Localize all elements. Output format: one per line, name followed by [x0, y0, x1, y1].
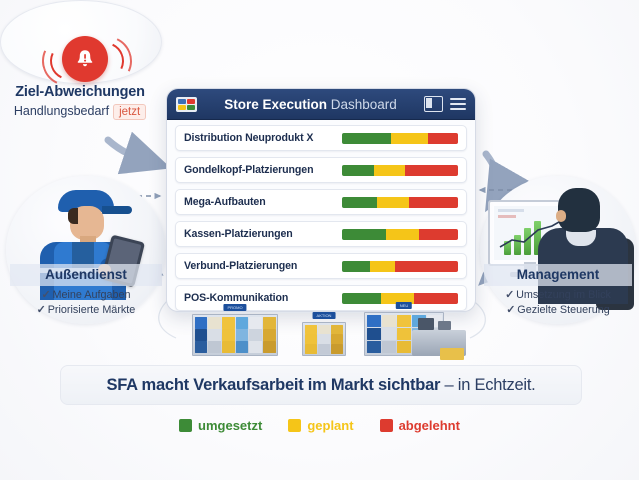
kpi-row[interactable]: Kassen-Platzierungen	[175, 221, 467, 247]
shelf-tier	[305, 334, 344, 344]
kpi-label: Kassen-Platzierungen	[184, 228, 342, 240]
card-view-icon[interactable]	[424, 96, 443, 112]
persona-right-bullets: ✓Umsetzung im Blick ✓Gezielte Steuerung	[480, 288, 636, 318]
kpi-status-bar	[342, 261, 458, 272]
segment-geplant	[377, 197, 409, 208]
caption-text: SFA macht Verkaufsarbeit im Markt sichtb…	[107, 376, 536, 395]
kpi-status-bar	[342, 197, 458, 208]
bullet-label: Meine Aufgaben	[53, 289, 131, 301]
legend-label: geplant	[307, 418, 353, 433]
store-shelf-scene: PROMO AKTION	[176, 308, 466, 360]
segment-geplant	[370, 261, 396, 272]
status-legend: umgesetztgeplantabgelehnt	[0, 418, 639, 433]
kpi-row[interactable]: Gondelkopf-Platzierungen	[175, 157, 467, 183]
bullet-label: Priorisierte Märkte	[48, 304, 136, 316]
kpi-label: Mega-Aufbauten	[184, 196, 342, 208]
persona-left-name: Außendienst	[6, 267, 166, 282]
legend-swatch	[179, 419, 192, 432]
segment-geplant	[386, 229, 418, 240]
list-item: ✓Meine Aufgaben	[6, 288, 166, 303]
page-title: Store Execution Dashboard	[204, 97, 417, 112]
bullet-label: Umsetzung im Blick	[516, 289, 611, 301]
kpi-label: Distribution Neuprodukt X	[184, 132, 342, 144]
title-bold: Store Execution	[224, 97, 327, 112]
app-tiles-icon	[176, 97, 197, 112]
checkout-counter	[412, 330, 466, 356]
title-light: Dashboard	[331, 97, 397, 112]
segment-geplant	[374, 165, 404, 176]
bullet-label: Gezielte Steuerung	[517, 304, 609, 316]
segment-abgelehnt	[428, 133, 458, 144]
alert-now-badge: jetzt	[113, 104, 146, 120]
shelf-rack	[302, 322, 346, 356]
segment-abgelehnt	[419, 229, 458, 240]
hamburger-menu-icon[interactable]	[450, 98, 466, 110]
segment-geplant	[391, 133, 428, 144]
kpi-row[interactable]: Verbund-Platzierungen	[175, 253, 467, 279]
legend-item: geplant	[288, 418, 353, 433]
manager-head	[558, 188, 600, 232]
kpi-label: Verbund-Platzierungen	[184, 260, 342, 272]
segment-abgelehnt	[405, 165, 458, 176]
legend-swatch	[380, 419, 393, 432]
shelf-tier	[195, 329, 276, 341]
check-icon: ✓	[505, 289, 514, 301]
check-icon: ✓	[506, 304, 515, 316]
infographic-canvas: Ziel-Abweichungen Handlungsbedarfjetzt A…	[0, 0, 639, 480]
dashboard-titlebar: Store Execution Dashboard	[167, 89, 475, 120]
checkout-crate	[440, 348, 464, 360]
gondola-shelf-large: PROMO	[192, 314, 278, 356]
rep-cap-brim	[102, 206, 132, 214]
segment-abgelehnt	[409, 197, 458, 208]
store-execution-dashboard[interactable]: Store Execution Dashboard Distribution N…	[166, 88, 476, 312]
alert-subtitle: Handlungsbedarf	[14, 104, 109, 118]
manager-ear	[556, 210, 566, 222]
persona-left-bullets: ✓Meine Aufgaben ✓Priorisierte Märkte	[6, 288, 166, 318]
shelf-tier	[195, 341, 276, 353]
caption-light: – in Echtzeit.	[440, 376, 535, 394]
persona-field-rep: Außendienst ✓Meine Aufgaben ✓Priorisiert…	[6, 176, 166, 324]
segment-umgesetzt	[342, 293, 381, 304]
list-item: ✓Priorisierte Märkte	[6, 303, 166, 318]
segment-umgesetzt	[342, 197, 377, 208]
persona-right-name: Management	[480, 267, 636, 282]
list-item: ✓Gezielte Steuerung	[480, 303, 636, 318]
floor-display-small: AKTION	[302, 322, 346, 356]
check-icon: ✓	[37, 304, 46, 316]
shelf-rack	[192, 314, 278, 356]
rep-hair	[68, 208, 78, 224]
legend-label: umgesetzt	[198, 418, 262, 433]
kpi-status-bar	[342, 165, 458, 176]
segment-umgesetzt	[342, 261, 370, 272]
kpi-label: Gondelkopf-Platzierungen	[184, 164, 342, 176]
alert-bell-icon	[62, 36, 108, 82]
kpi-status-bar	[342, 133, 458, 144]
segment-abgelehnt	[414, 293, 458, 304]
caption-bold: SFA macht Verkaufsarbeit im Markt sichtb…	[107, 376, 441, 394]
list-item: ✓Umsetzung im Blick	[480, 288, 636, 303]
persona-management: Management ✓Umsetzung im Blick ✓Gezielte…	[480, 176, 636, 324]
legend-item: umgesetzt	[179, 418, 262, 433]
shelf-sign: AKTION	[313, 312, 336, 319]
shelf-sign: PROMO	[223, 304, 246, 311]
kpi-row[interactable]: Distribution Neuprodukt X	[175, 125, 467, 151]
shelf-tier	[195, 317, 276, 329]
check-icon: ✓	[41, 289, 50, 301]
kpi-row[interactable]: Mega-Aufbauten	[175, 189, 467, 215]
legend-label: abgelehnt	[399, 418, 460, 433]
segment-umgesetzt	[342, 133, 391, 144]
segment-umgesetzt	[342, 165, 374, 176]
shelf-sign: NEU	[396, 302, 412, 309]
kpi-list: Distribution Neuprodukt XGondelkopf-Plat…	[167, 120, 475, 312]
shelf-tier	[305, 344, 344, 354]
segment-abgelehnt	[395, 261, 458, 272]
kpi-label: POS-Kommunikation	[184, 292, 342, 304]
kpi-status-bar	[342, 229, 458, 240]
alert-title: Ziel-Abweichungen	[0, 84, 160, 100]
alert-subtitle-row: Handlungsbedarfjetzt	[0, 104, 160, 120]
segment-umgesetzt	[342, 229, 386, 240]
legend-item: abgelehnt	[380, 418, 460, 433]
shelf-tier	[305, 325, 344, 335]
legend-swatch	[288, 419, 301, 432]
alert-callout	[0, 0, 162, 84]
caption-band: SFA macht Verkaufsarbeit im Markt sichtb…	[60, 365, 582, 405]
